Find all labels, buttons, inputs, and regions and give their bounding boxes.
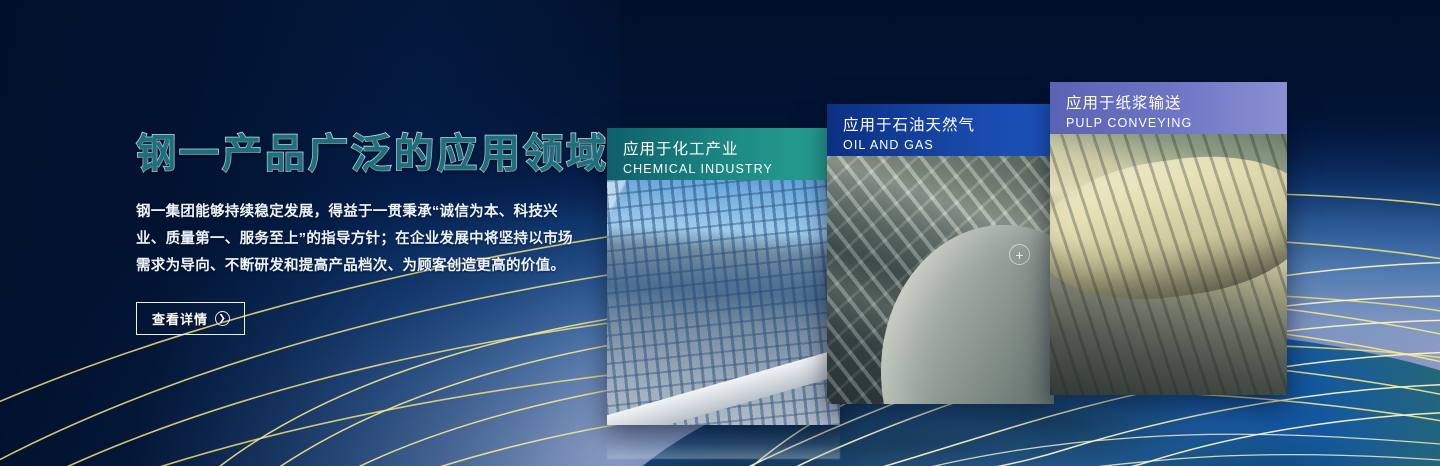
banner-copy: 钢一产品广泛的应用领域 钢一集团能够持续稳定发展，得益于一贯秉承“诚信为本、科技… — [136, 132, 606, 335]
banner-description: 钢一集团能够持续稳定发展，得益于一贯秉承“诚信为本、科技兴业、质量第一、服务至上… — [136, 199, 581, 280]
card-caption: 应用于化工产业 CHEMICAL INDUSTRY — [607, 128, 840, 180]
hero-banner: 钢一产品广泛的应用领域 钢一集团能够持续稳定发展，得益于一贯秉承“诚信为本、科技… — [0, 0, 1440, 466]
oil-gas-pipes-photo: + — [827, 156, 1054, 404]
view-details-button[interactable]: 查看详情 ❯ — [136, 302, 245, 335]
paper-mill-roller-photo — [1050, 134, 1287, 395]
card-title-en: CHEMICAL INDUSTRY — [623, 161, 840, 177]
application-card-chemical-industry[interactable]: 应用于化工产业 CHEMICAL INDUSTRY — [607, 128, 840, 425]
chevron-right-circle-icon: ❯ — [215, 311, 230, 326]
card-title-cn: 应用于纸浆输送 — [1066, 94, 1287, 114]
chemical-plant-photo — [607, 180, 840, 425]
application-card-pulp-conveying[interactable]: 应用于纸浆输送 PULP CONVEYING — [1050, 82, 1287, 395]
application-card-oil-and-gas[interactable]: 应用于石油天然气 OIL AND GAS + — [827, 104, 1054, 404]
card-title-cn: 应用于石油天然气 — [843, 116, 1054, 136]
card-caption: 应用于石油天然气 OIL AND GAS — [827, 104, 1054, 156]
card-title-en: PULP CONVEYING — [1066, 115, 1287, 131]
card-title-cn: 应用于化工产业 — [623, 140, 840, 160]
page-title: 钢一产品广泛的应用领域 — [136, 132, 606, 177]
zoom-plus-icon[interactable]: + — [1009, 244, 1030, 265]
card-title-en: OIL AND GAS — [843, 137, 1054, 153]
view-details-label: 查看详情 — [152, 309, 208, 328]
card-caption: 应用于纸浆输送 PULP CONVEYING — [1050, 82, 1287, 134]
